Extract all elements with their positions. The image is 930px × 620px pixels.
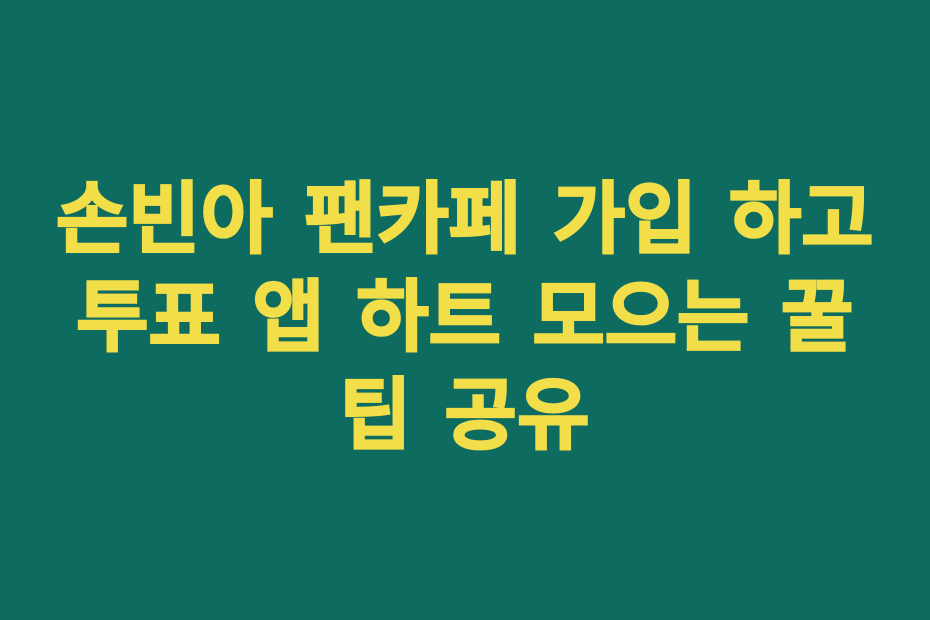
headline-line-3: 팁 공유 (30, 367, 900, 465)
headline-line-2: 투표 앱 하트 모으는 꿀 (30, 269, 900, 367)
headline: 손빈아 팬카페 가입 하고 투표 앱 하트 모으는 꿀 팁 공유 (30, 171, 900, 465)
headline-line-1: 손빈아 팬카페 가입 하고 (30, 171, 900, 269)
poster-canvas: 손빈아 팬카페 가입 하고 투표 앱 하트 모으는 꿀 팁 공유 (0, 0, 930, 620)
